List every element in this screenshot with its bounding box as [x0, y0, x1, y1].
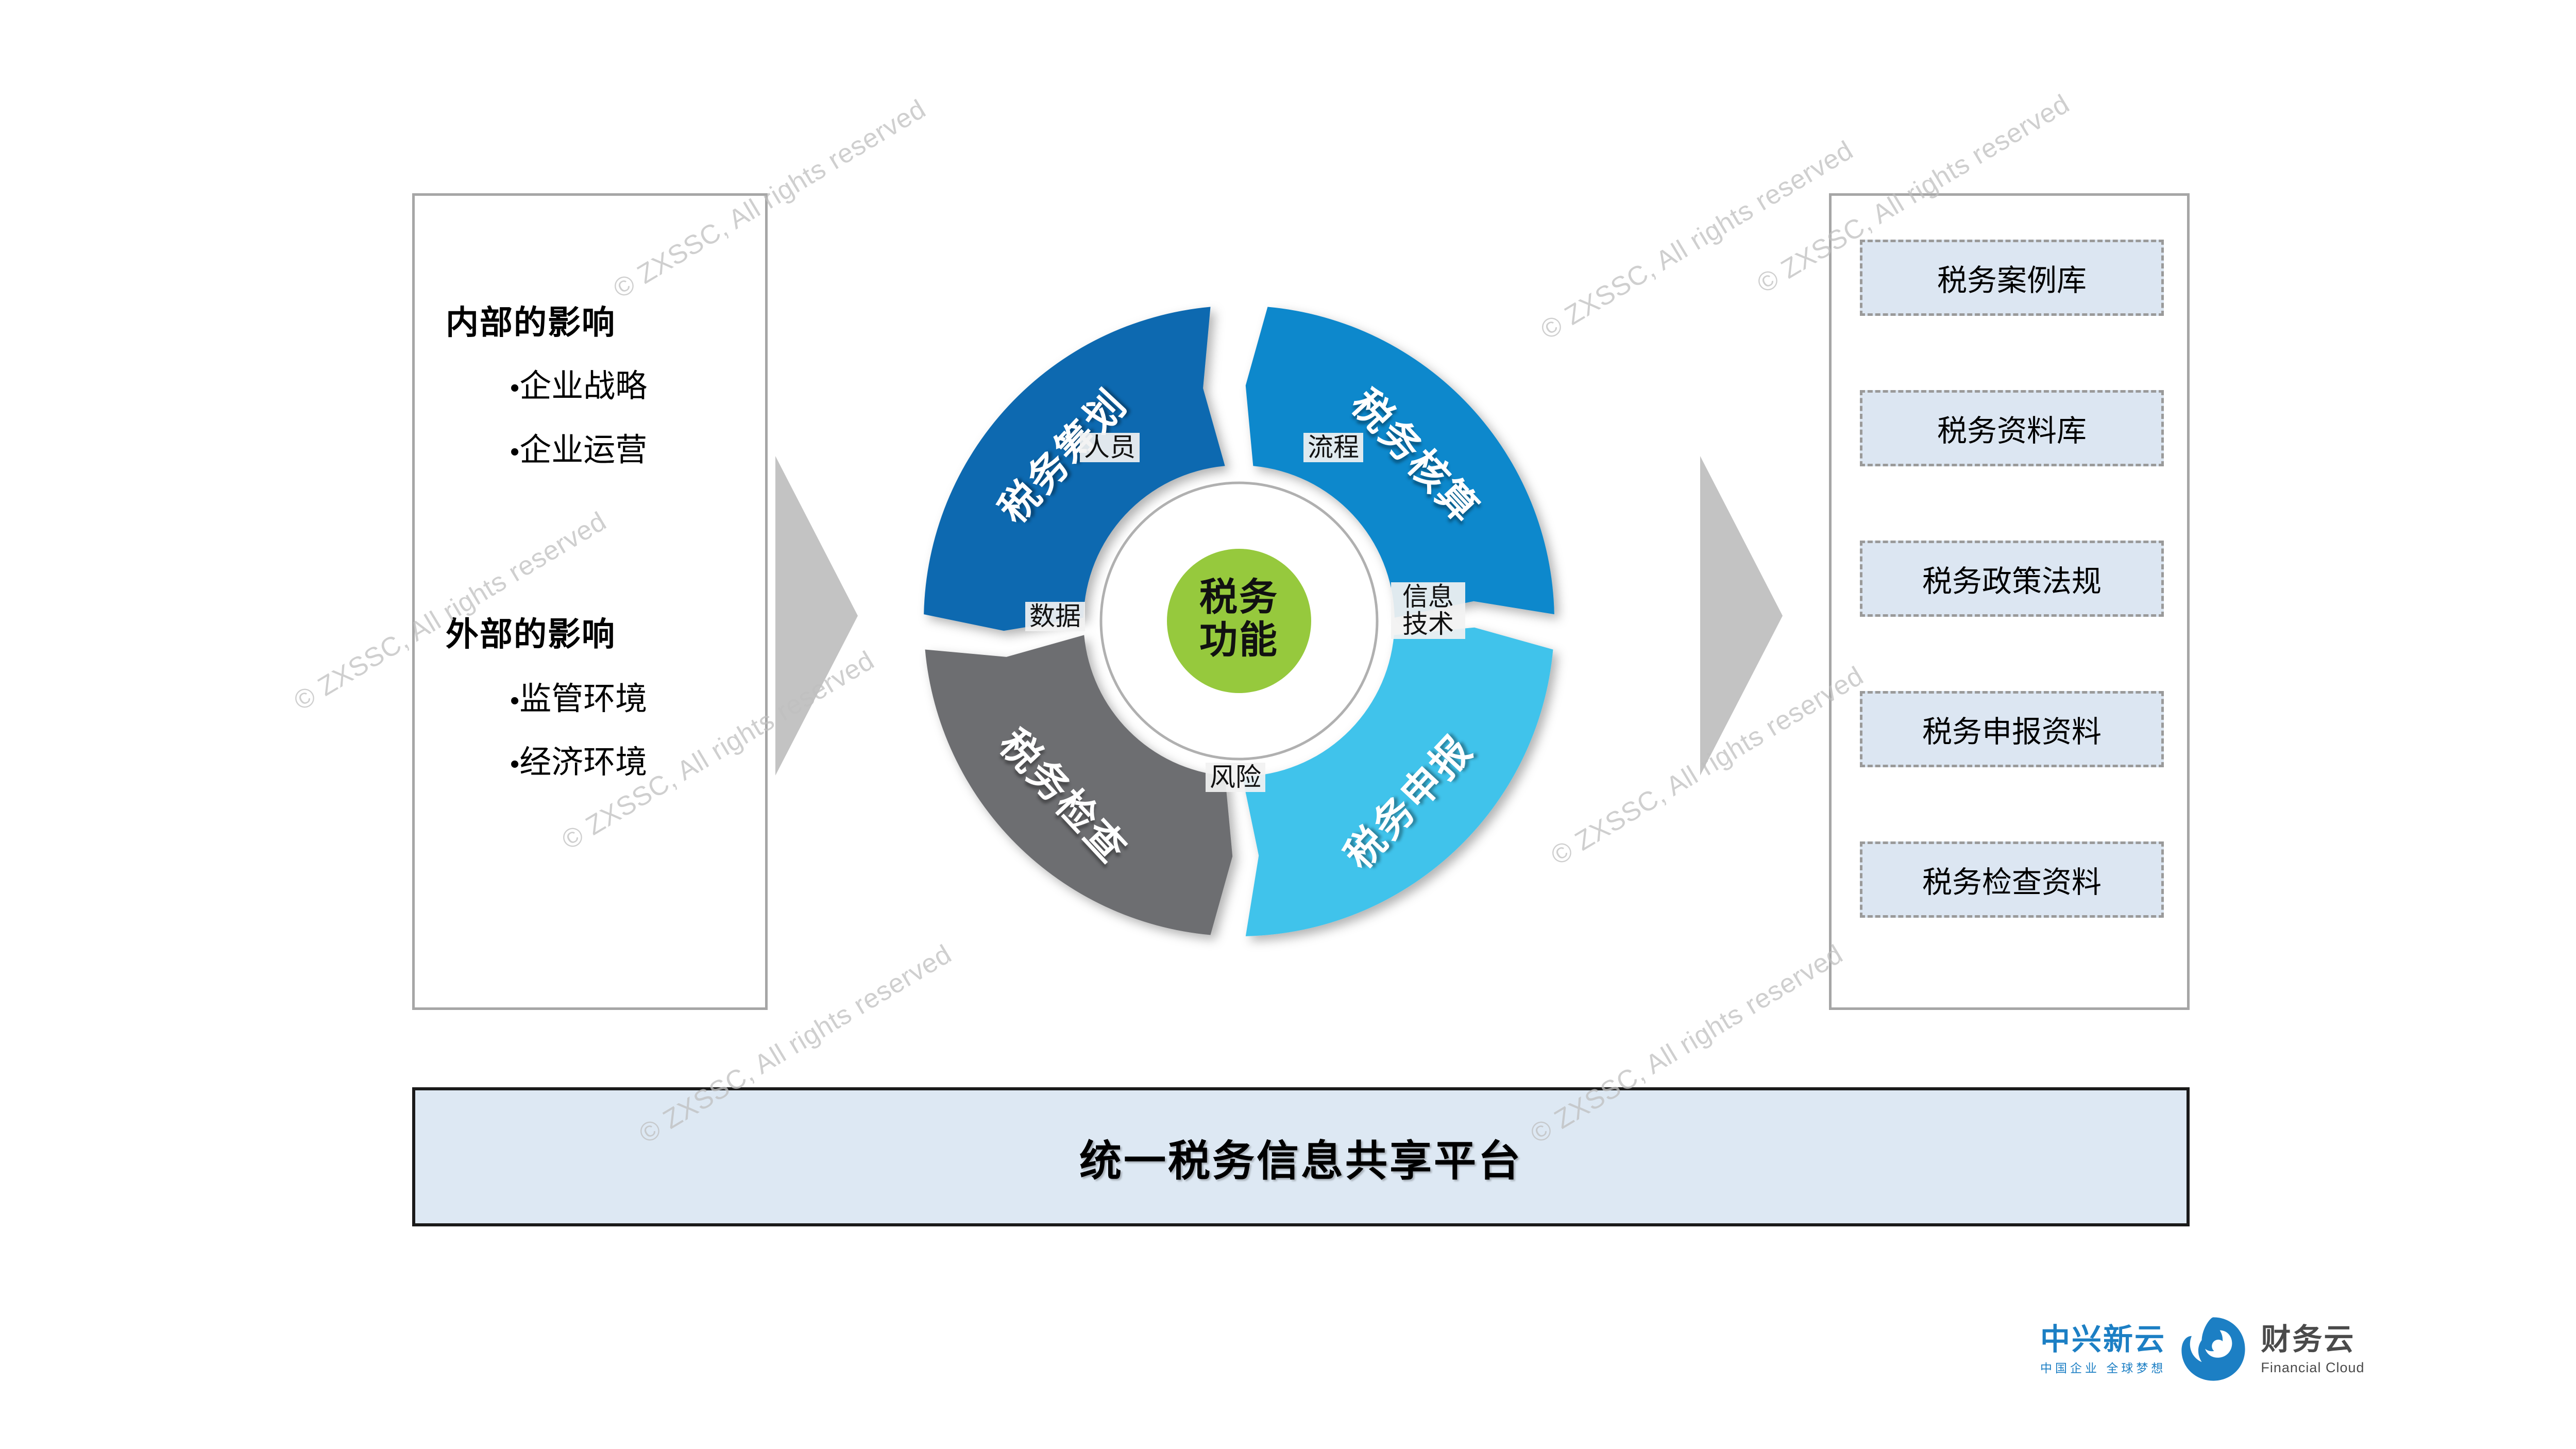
resource-item-2[interactable]: 税务政策法规 — [1860, 541, 2164, 617]
bullet-dot-icon: • — [510, 686, 519, 716]
external-influence-item-1: •经济环境 — [510, 736, 647, 782]
chevron-right-icon-right — [1700, 456, 1783, 776]
inner-label-process: 流程 — [1303, 433, 1363, 462]
internal-influence-item-1: •企业运营 — [510, 424, 647, 470]
unified-platform-banner: 统一税务信息共享平台 — [412, 1087, 2190, 1226]
inner-label-it: 信息技术 — [1391, 582, 1465, 639]
resource-item-1[interactable]: 税务资料库 — [1860, 390, 2164, 466]
unified-platform-banner-text: 统一税务信息共享平台 — [1079, 1126, 1522, 1188]
external-influence-item-0: •监管环境 — [510, 672, 647, 719]
bullet-dot-icon: • — [510, 373, 519, 403]
bullet-dot-icon: • — [510, 437, 519, 467]
core-label-line-2: 功能 — [1151, 619, 1327, 662]
brand-logo-left: 中兴新云 中国企业 全球梦想 — [2040, 1324, 2166, 1376]
swirl-cloud-icon — [2177, 1313, 2249, 1388]
resource-item-0[interactable]: 税务案例库 — [1860, 240, 2164, 316]
inner-label-risk: 风险 — [1206, 763, 1265, 792]
brand-logo: 中兴新云 中国企业 全球梦想 财务云 Financial Cloud — [2040, 1309, 2365, 1391]
influence-factors-panel: 内部的影响 •企业战略 •企业运营 外部的影响 •监管环境 •经济环境 — [412, 193, 768, 1010]
internal-influence-item-0: •企业战略 — [510, 360, 647, 406]
bullet-dot-icon: • — [510, 749, 519, 779]
resource-item-3[interactable]: 税务申报资料 — [1860, 691, 2164, 767]
chevron-right-icon-left — [775, 456, 858, 776]
brand-tagline: 中国企业 全球梦想 — [2040, 1358, 2166, 1376]
external-influence-heading: 外部的影响 — [446, 608, 616, 655]
brand-logo-right: 财务云 Financial Cloud — [2261, 1324, 2364, 1376]
inner-label-people: 人员 — [1080, 433, 1140, 462]
brand-name: 中兴新云 — [2040, 1324, 2166, 1356]
internal-influence-heading: 内部的影响 — [446, 296, 616, 344]
core-label: 税务 功能 — [1151, 576, 1327, 662]
product-name-en: Financial Cloud — [2261, 1360, 2364, 1376]
core-label-line-1: 税务 — [1151, 576, 1327, 619]
product-name: 财务云 — [2261, 1324, 2364, 1356]
watermark-text: © ZXSSC, All rights reserved — [1535, 134, 1859, 346]
tax-function-donut-chart: 税务筹划 税务核算 税务申报 税务检查 人员 流程 信息技术 风险 数据 税务 … — [896, 278, 1582, 964]
tax-resources-panel: 税务案例库 税务资料库 税务政策法规 税务申报资料 税务检查资料 — [1829, 193, 2190, 1010]
resource-item-4[interactable]: 税务检查资料 — [1860, 841, 2164, 918]
inner-label-data: 数据 — [1025, 602, 1085, 631]
slide-canvas: 内部的影响 •企业战略 •企业运营 外部的影响 •监管环境 •经济环境 — [0, 0, 2576, 1449]
